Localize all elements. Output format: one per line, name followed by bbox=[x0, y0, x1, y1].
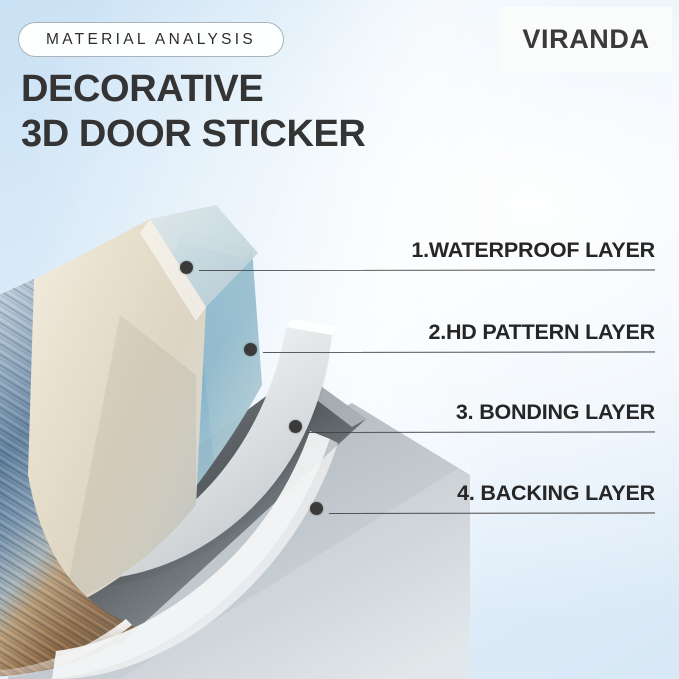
layer-label-underline-2 bbox=[362, 351, 655, 352]
layer-label-underline-3 bbox=[362, 431, 655, 432]
sticker-layers-illustration bbox=[0, 175, 470, 679]
layer-label-2: 2.HD PATTERN LAYER bbox=[428, 320, 655, 345]
callout-leader-line-4 bbox=[329, 513, 655, 514]
layer-label-3: 3. BONDING LAYER bbox=[456, 400, 655, 425]
layer-label-1: 1.WATERPROOF LAYER bbox=[411, 238, 655, 263]
callout-dot-2 bbox=[244, 343, 257, 356]
title-line-1: DECORATIVE bbox=[21, 70, 365, 109]
callout-dot-4 bbox=[310, 502, 323, 515]
layer-label-underline-4 bbox=[362, 512, 655, 513]
title-line-2: 3D DOOR STICKER bbox=[21, 115, 365, 154]
material-analysis-badge: MATERIAL ANALYSIS bbox=[18, 22, 284, 57]
brand-logo: VIRANDA bbox=[501, 8, 671, 70]
callout-leader-line-1 bbox=[199, 270, 655, 271]
badge-label: MATERIAL ANALYSIS bbox=[46, 31, 256, 49]
callout-leader-line-2 bbox=[263, 352, 655, 353]
callout-dot-1 bbox=[180, 261, 193, 274]
callout-dot-3 bbox=[289, 420, 302, 433]
page-title: DECORATIVE 3D DOOR STICKER bbox=[21, 70, 365, 154]
brand-name: VIRANDA bbox=[522, 24, 649, 55]
callout-leader-line-3 bbox=[308, 432, 655, 433]
layer-label-4: 4. BACKING LAYER bbox=[457, 481, 655, 506]
infographic-canvas: MATERIAL ANALYSIS DECORATIVE 3D DOOR STI… bbox=[0, 0, 679, 679]
layer-label-underline-1 bbox=[362, 269, 655, 270]
